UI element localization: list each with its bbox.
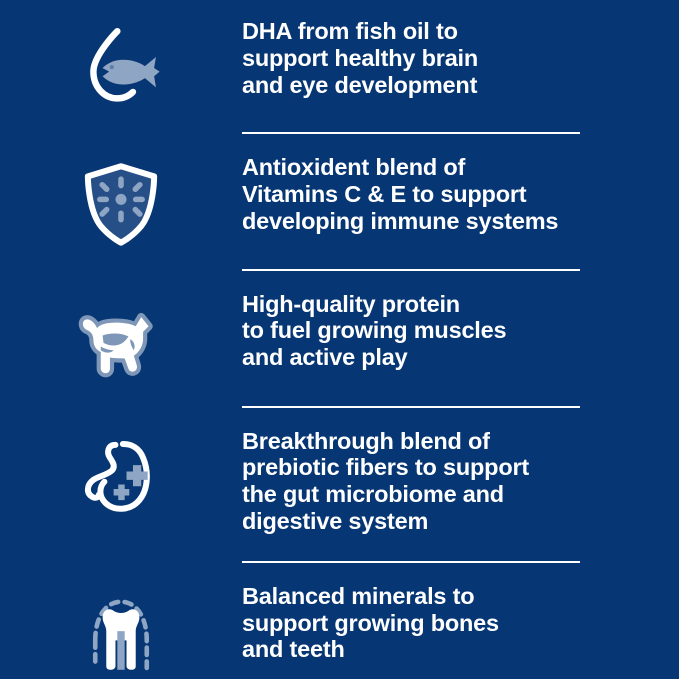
divider-row [0,406,679,408]
benefit-icon-cell [0,154,242,250]
bone-tooth-icon [75,587,167,679]
shield-burst-icon [75,158,167,250]
benefit-icon-cell [0,428,242,524]
benefit-divider-1 [242,132,580,134]
divider-spacer [0,269,242,271]
benefit-list: DHA from fish oil to support healthy bra… [0,0,679,679]
benefit-icon-cell [0,583,242,679]
divider-spacer [0,561,242,563]
benefit-icon-cell [0,18,242,114]
divider-row [0,561,679,563]
benefit-item-protein: High-quality protein to fuel growing mus… [0,291,679,387]
stomach-plus-icon [75,432,167,524]
benefit-text-cell: DHA from fish oil to support healthy bra… [242,18,679,98]
divider-spacer [0,132,242,134]
divider-row [0,269,679,271]
benefits-panel: DHA from fish oil to support healthy bra… [0,0,679,679]
benefit-label: High-quality protein to fuel growing mus… [242,291,589,371]
benefit-label: DHA from fish oil to support healthy bra… [242,18,589,98]
benefit-text-cell: Antioxident blend of Vitamins C & E to s… [242,154,679,234]
benefit-divider-3 [242,406,580,408]
benefit-label: Antioxident blend of Vitamins C & E to s… [242,154,589,234]
benefit-label: Balanced minerals to support growing bon… [242,583,589,663]
benefit-text-cell: High-quality protein to fuel growing mus… [242,291,679,371]
benefit-divider-2 [242,269,580,271]
benefit-item-minerals: Balanced minerals to support growing bon… [0,583,679,679]
cat-muscle-icon [75,295,167,387]
fish-droplet-icon [75,22,167,114]
benefit-icon-cell [0,291,242,387]
benefit-item-antioxidant: Antioxident blend of Vitamins C & E to s… [0,154,679,250]
benefit-text-cell: Balanced minerals to support growing bon… [242,583,679,663]
divider-row [0,132,679,134]
divider-spacer [0,406,242,408]
benefit-item-dha: DHA from fish oil to support healthy bra… [0,18,679,114]
benefit-text-cell: Breakthrough blend of prebiotic fibers t… [242,428,679,535]
benefit-label: Breakthrough blend of prebiotic fibers t… [242,428,589,535]
benefit-divider-4 [242,561,580,563]
benefit-item-prebiotic: Breakthrough blend of prebiotic fibers t… [0,428,679,543]
